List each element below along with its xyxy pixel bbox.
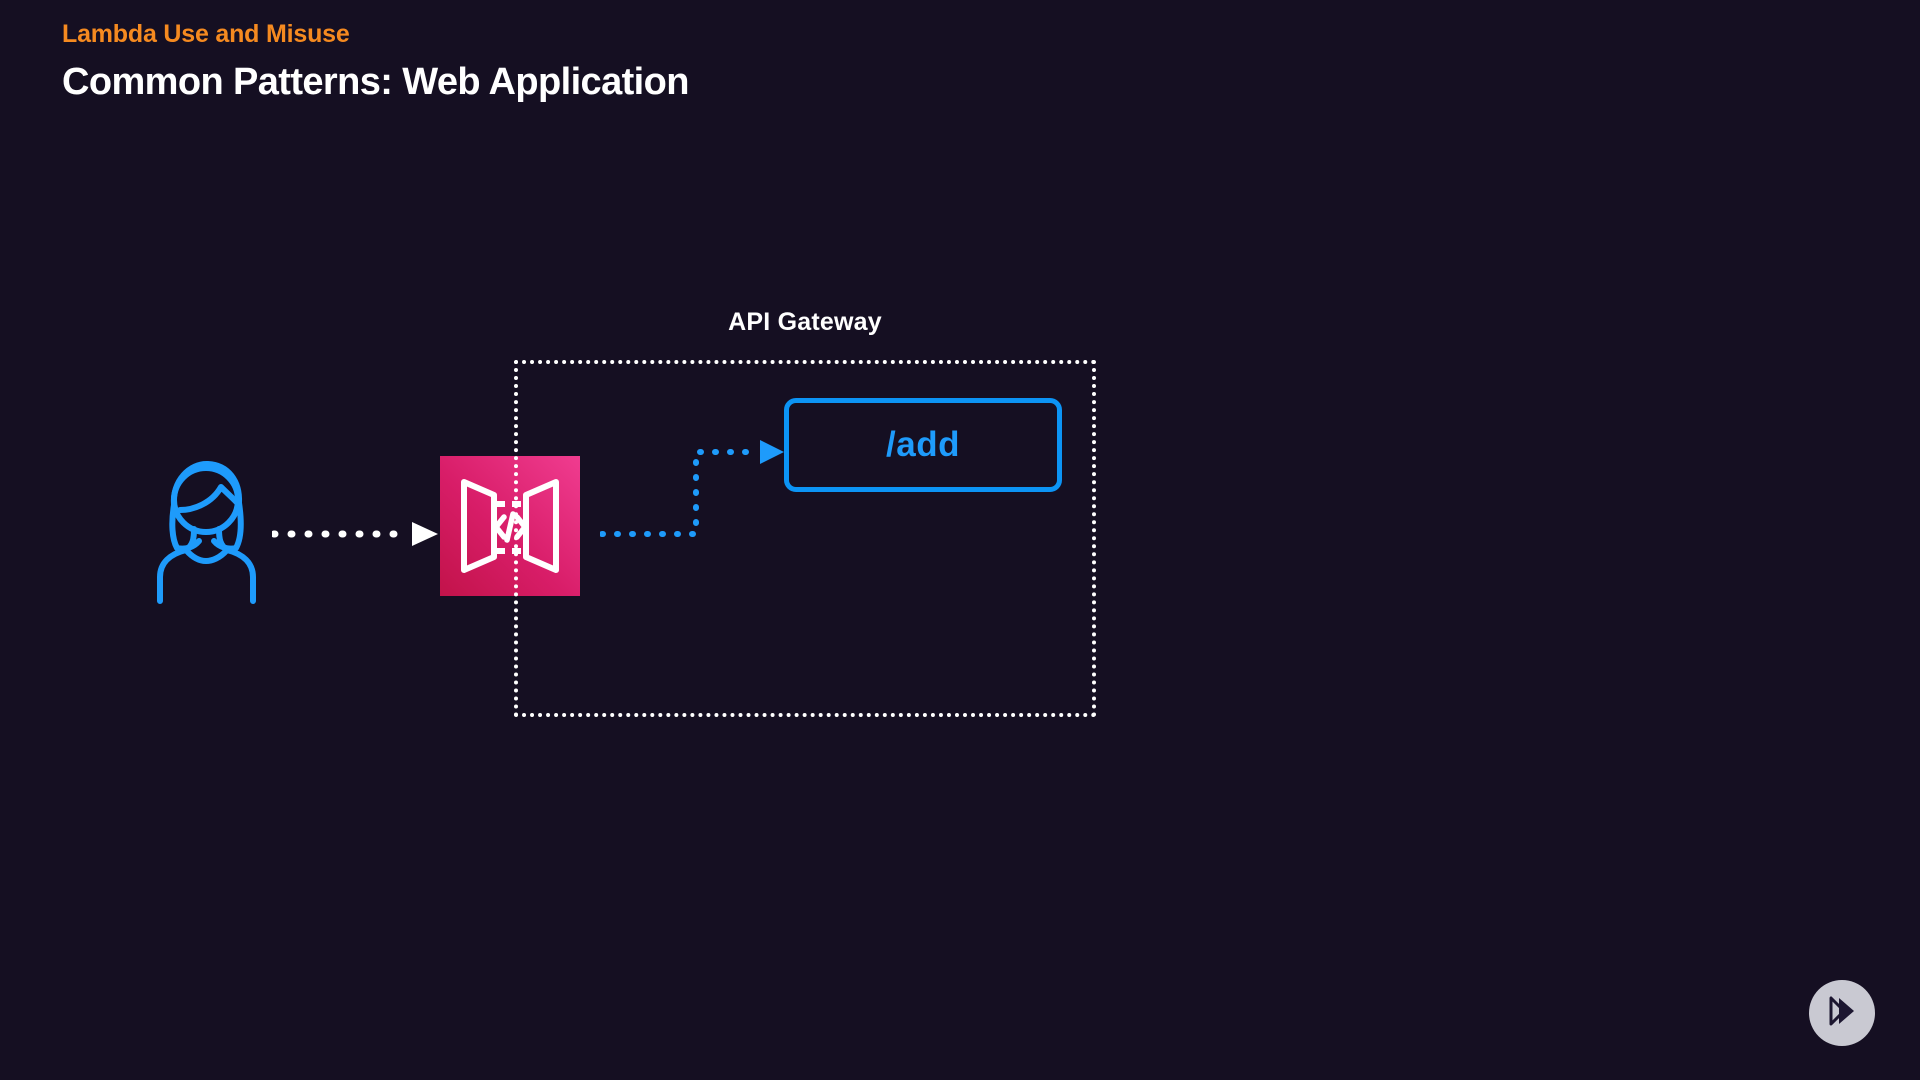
api-gateway-boundary-label: API Gateway	[514, 308, 1096, 337]
user-person-icon	[146, 455, 266, 605]
brand-logo-badge[interactable]	[1809, 980, 1875, 1046]
route-endpoint-add-label: /add	[886, 425, 960, 465]
flow-gateway-to-route-arrow	[600, 430, 790, 540]
slide-root: Lambda Use and Misuse Common Patterns: W…	[0, 0, 1920, 1080]
route-endpoint-add[interactable]: /add	[784, 398, 1062, 492]
flow-actor-to-gateway-arrow	[272, 514, 442, 554]
double-play-triangle-logo	[1822, 991, 1862, 1036]
diagram-stage: API Gateway /add	[0, 0, 1920, 1080]
